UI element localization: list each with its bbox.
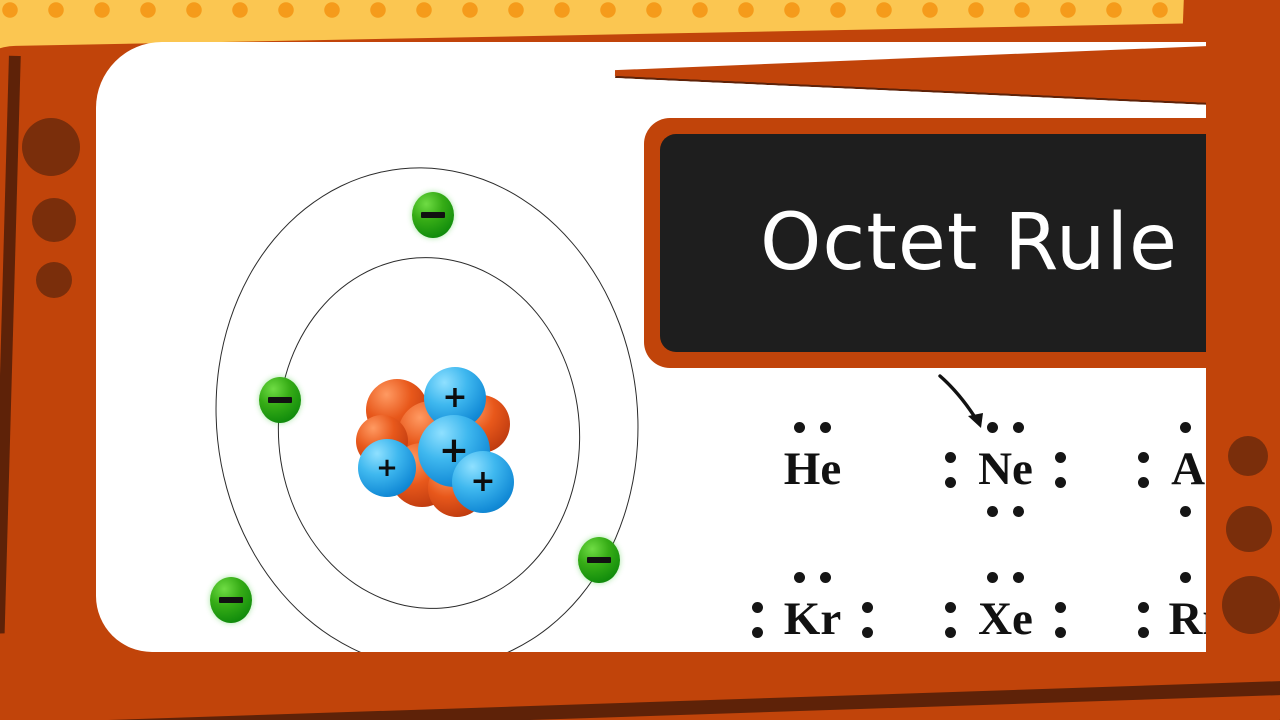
kr-dot-left-1 xyxy=(752,602,763,613)
xe-dot-right-1 xyxy=(1055,602,1066,613)
proton-9: + xyxy=(358,439,416,497)
ne-dot-left-2 xyxy=(945,477,956,488)
electron-3 xyxy=(210,577,252,623)
rn-dot-left-1 xyxy=(1138,602,1149,613)
ar-dot-left-1 xyxy=(1138,452,1149,463)
electron-2 xyxy=(259,377,301,423)
ne-dot-top-2 xyxy=(1013,422,1024,433)
ne-dot-left-1 xyxy=(945,452,956,463)
lewis-structure-xe: Xe xyxy=(909,560,1102,652)
lewis-structure-rn: Rn xyxy=(1102,560,1206,652)
ne-dot-bottom-1 xyxy=(987,506,998,517)
lewis-structure-ar: Ar xyxy=(1102,410,1206,528)
stud-right-1 xyxy=(1228,436,1268,476)
proton-plus-sign: + xyxy=(376,455,398,481)
ne-dot-top-1 xyxy=(987,422,998,433)
rn-dot-left-2 xyxy=(1138,627,1149,638)
element-symbol-ne: Ne xyxy=(978,442,1033,496)
stud-left-2 xyxy=(32,198,76,242)
ne-dot-right-2 xyxy=(1055,477,1066,488)
kr-dot-left-2 xyxy=(752,627,763,638)
xe-dot-right-2 xyxy=(1055,627,1066,638)
lewis-structure-ne: Ne xyxy=(909,410,1102,528)
ar-dot-bottom-1 xyxy=(1180,506,1191,517)
atom-nucleus: ++++ xyxy=(356,367,521,522)
lewis-row: HeNeAr xyxy=(716,410,1206,528)
he-dot-top-1 xyxy=(794,422,805,433)
xe-dot-left-1 xyxy=(945,602,956,613)
atom-diagram: ++++ xyxy=(206,137,676,652)
proton-plus-sign: + xyxy=(470,467,495,497)
ar-dot-top-1 xyxy=(1180,422,1191,433)
title-board-inner: Octet Rule xyxy=(660,134,1206,352)
stud-left-3 xyxy=(36,262,72,298)
stud-left-1 xyxy=(22,118,80,176)
xe-dot-top-2 xyxy=(1013,572,1024,583)
proton-plus-sign: + xyxy=(442,383,467,413)
kr-dot-right-1 xyxy=(862,602,873,613)
stud-right-3 xyxy=(1222,576,1280,634)
element-symbol-ar: Ar xyxy=(1171,442,1206,496)
lewis-structure-grid: HeNeArKrXeRn xyxy=(716,410,1206,652)
element-symbol-rn: Rn xyxy=(1168,592,1206,646)
corner-wedge xyxy=(615,42,1206,112)
slide-canvas: ++++ Octet Rule HeNeArKrXeRn xyxy=(0,0,1280,720)
lewis-row: KrXeRn xyxy=(716,560,1206,652)
he-dot-top-2 xyxy=(820,422,831,433)
lewis-structure-he: He xyxy=(716,410,909,528)
rn-dot-top-1 xyxy=(1180,572,1191,583)
electron-4 xyxy=(578,537,620,583)
kr-dot-top-1 xyxy=(794,572,805,583)
xe-dot-top-1 xyxy=(987,572,998,583)
page-title: Octet Rule xyxy=(760,198,1178,288)
content-card: ++++ Octet Rule HeNeArKrXeRn xyxy=(96,42,1206,652)
electron-1 xyxy=(412,192,454,238)
kr-dot-top-2 xyxy=(820,572,831,583)
element-symbol-kr: Kr xyxy=(784,592,841,646)
lewis-structure-kr: Kr xyxy=(716,560,909,652)
proton-10: + xyxy=(452,451,514,513)
element-symbol-xe: Xe xyxy=(978,592,1033,646)
kr-dot-right-2 xyxy=(862,627,873,638)
ne-dot-right-1 xyxy=(1055,452,1066,463)
ne-dot-bottom-2 xyxy=(1013,506,1024,517)
ar-dot-left-2 xyxy=(1138,477,1149,488)
xe-dot-left-2 xyxy=(945,627,956,638)
title-board: Octet Rule xyxy=(644,118,1206,368)
stud-right-2 xyxy=(1226,506,1272,552)
element-symbol-he: He xyxy=(784,442,841,496)
